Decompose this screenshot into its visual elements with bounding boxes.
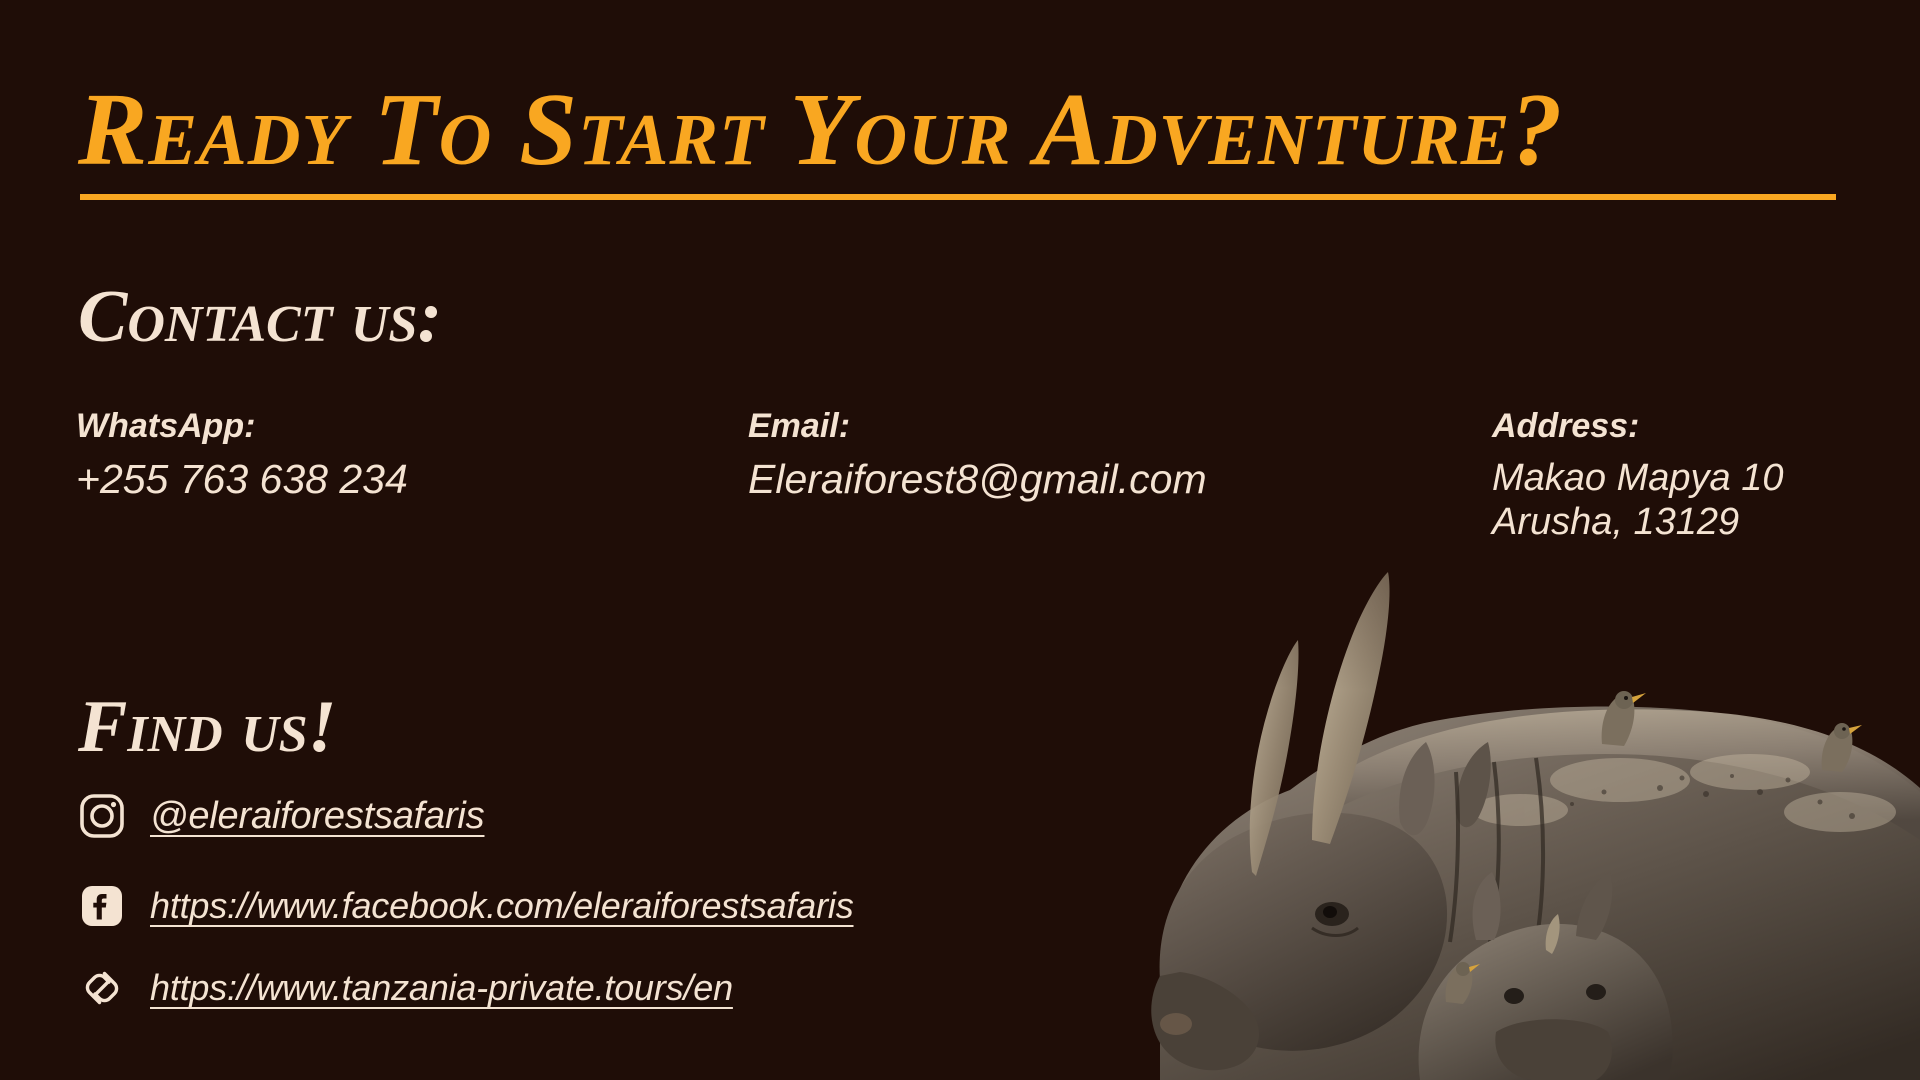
whatsapp-label: WhatsApp: [76,405,408,448]
facebook-url[interactable]: https://www.facebook.com/eleraiforestsaf… [150,885,854,927]
whatsapp-value[interactable]: +255 763 638 234 [76,456,408,504]
page-title: Ready To Start Your Adventure? [78,78,1563,182]
link-icon[interactable] [76,962,128,1014]
address-line-2: Arusha, 13129 [1492,500,1784,544]
social-row-facebook[interactable]: https://www.facebook.com/eleraiforestsaf… [76,880,854,932]
social-row-website[interactable]: https://www.tanzania-private.tours/en [76,962,733,1014]
contact-column-whatsapp: WhatsApp: +255 763 638 234 [76,405,408,503]
email-value[interactable]: Eleraiforest8@gmail.com [748,456,1207,504]
instagram-handle[interactable]: @eleraiforestsafaris [150,795,484,838]
contact-card: Ready To Start Your Adventure? Contact u… [0,0,1920,1080]
address-label: Address: [1492,405,1784,448]
email-label: Email: [748,405,1207,448]
contact-column-email: Email: Eleraiforest8@gmail.com [748,405,1207,503]
find-us-heading: Find us! [78,690,336,764]
contact-column-address: Address: Makao Mapya 10 Arusha, 13129 [1492,405,1784,544]
address-line-1: Makao Mapya 10 [1492,456,1784,500]
instagram-icon[interactable] [76,790,128,842]
title-underline [80,194,1836,200]
social-row-instagram[interactable]: @eleraiforestsafaris [76,790,484,842]
facebook-icon[interactable] [76,880,128,932]
website-url[interactable]: https://www.tanzania-private.tours/en [150,967,733,1009]
contact-us-heading: Contact us: [78,280,442,354]
